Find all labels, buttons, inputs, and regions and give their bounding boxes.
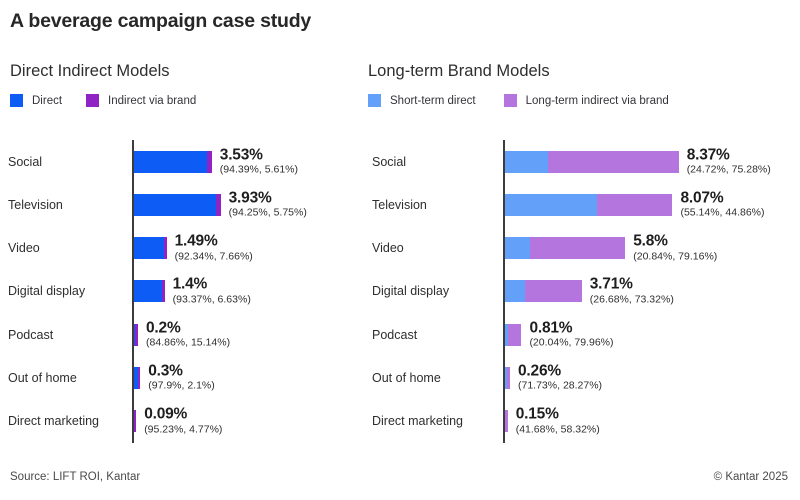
stacked-bar[interactable] — [134, 280, 165, 302]
stacked-bar[interactable] — [505, 410, 508, 432]
legend-label: Short-term direct — [390, 95, 476, 107]
value-label-group: 3.53%(94.39%, 5.61%) — [220, 147, 298, 176]
chart-long-term-brand: Social8.37%(24.72%, 75.28%)Television8.0… — [360, 140, 800, 443]
source-note: Source: LIFT ROI, Kantar — [10, 471, 140, 483]
value-label-group: 0.15%(41.68%, 58.32%) — [516, 407, 600, 436]
bar-segment — [134, 237, 164, 259]
category-label: Out of home — [8, 371, 77, 385]
bar-segment — [525, 280, 582, 302]
split-share-label: (20.84%, 79.16%) — [633, 251, 717, 262]
value-label-group: 0.26%(71.73%, 28.27%) — [518, 364, 602, 393]
category-label: Television — [372, 198, 427, 212]
bar-segment — [505, 151, 548, 173]
stacked-bar[interactable] — [505, 324, 522, 346]
bar-row: Social3.53%(94.39%, 5.61%) — [0, 140, 360, 183]
value-label-group: 0.09%(95.23%, 4.77%) — [144, 407, 222, 436]
stacked-bar[interactable] — [134, 194, 221, 216]
split-share-label: (93.37%, 6.63%) — [173, 295, 251, 306]
bar-segment — [138, 367, 141, 389]
bar-segment — [134, 410, 137, 432]
split-share-label: (26.68%, 73.32%) — [590, 295, 674, 306]
stacked-bar[interactable] — [505, 280, 582, 302]
panel-title: Direct Indirect Models — [10, 62, 170, 81]
stacked-bar[interactable] — [505, 151, 679, 173]
bar-row: Podcast0.81%(20.04%, 79.96%) — [360, 313, 800, 356]
bar-segment — [207, 151, 211, 173]
bar-segment — [134, 280, 162, 302]
panel-long-term-brand-models: Long-term Brand Models Short-term direct… — [360, 0, 800, 500]
bar-segment — [505, 410, 508, 432]
legend-item-indirect-via-brand[interactable]: Indirect via brand — [86, 94, 196, 107]
category-label: Social — [8, 155, 42, 169]
bar-row: Social8.37%(24.72%, 75.28%) — [360, 140, 800, 183]
split-share-label: (97.9%, 2.1%) — [148, 381, 215, 392]
split-share-label: (95.23%, 4.77%) — [144, 424, 222, 435]
category-label: Social — [372, 155, 406, 169]
legend-swatch-icon — [86, 94, 99, 107]
stacked-bar[interactable] — [134, 151, 212, 173]
bar-row: Direct marketing0.09%(95.23%, 4.77%) — [0, 400, 360, 443]
category-label: Direct marketing — [8, 414, 99, 428]
bar-segment — [134, 151, 208, 173]
legend-swatch-icon — [504, 94, 517, 107]
stacked-bar[interactable] — [505, 194, 673, 216]
bar-row: Television3.93%(94.25%, 5.75%) — [0, 183, 360, 226]
value-label-group: 3.93%(94.25%, 5.75%) — [229, 191, 307, 220]
category-label: Direct marketing — [372, 414, 463, 428]
category-label: Podcast — [372, 328, 417, 342]
bar-row: Out of home0.3%(97.9%, 2.1%) — [0, 356, 360, 399]
split-share-label: (92.34%, 7.66%) — [175, 251, 253, 262]
split-share-label: (71.73%, 28.27%) — [518, 381, 602, 392]
legend-label: Direct — [32, 95, 62, 107]
split-share-label: (20.04%, 79.96%) — [529, 338, 613, 349]
category-label: Digital display — [8, 284, 85, 298]
stacked-bar[interactable] — [134, 367, 141, 389]
value-label-group: 1.4%(93.37%, 6.63%) — [173, 277, 251, 306]
category-label: Video — [8, 241, 40, 255]
panel-direct-indirect-models: Direct Indirect Models Direct Indirect v… — [0, 0, 360, 500]
bar-segment — [162, 280, 165, 302]
bar-row: Video5.8%(20.84%, 79.16%) — [360, 227, 800, 270]
stacked-bar[interactable] — [134, 410, 137, 432]
total-value-label: 1.4% — [173, 277, 251, 293]
total-value-label: 3.53% — [220, 147, 298, 163]
value-label-group: 0.81%(20.04%, 79.96%) — [529, 320, 613, 349]
total-value-label: 0.2% — [146, 320, 230, 336]
value-label-group: 8.07%(55.14%, 44.86%) — [680, 191, 764, 220]
chart-canvas: A beverage campaign case study Direct In… — [0, 0, 800, 500]
bar-segment — [135, 324, 138, 346]
bar-segment — [216, 194, 221, 216]
stacked-bar[interactable] — [505, 237, 626, 259]
stacked-bar[interactable] — [134, 324, 138, 346]
bar-segment — [508, 324, 521, 346]
bar-segment — [507, 367, 510, 389]
total-value-label: 0.15% — [516, 407, 600, 423]
panel-title: Long-term Brand Models — [368, 62, 550, 81]
bar-segment — [505, 280, 526, 302]
total-value-label: 1.49% — [175, 234, 253, 250]
split-share-label: (94.25%, 5.75%) — [229, 208, 307, 219]
category-label: Digital display — [372, 284, 449, 298]
total-value-label: 0.3% — [148, 364, 215, 380]
bar-segment — [134, 194, 216, 216]
split-share-label: (84.86%, 15.14%) — [146, 338, 230, 349]
chart-direct-indirect: Social3.53%(94.39%, 5.61%)Television3.93… — [0, 140, 360, 443]
bar-row: Video1.49%(92.34%, 7.66%) — [0, 227, 360, 270]
stacked-bar[interactable] — [134, 237, 167, 259]
legend-swatch-icon — [368, 94, 381, 107]
total-value-label: 0.09% — [144, 407, 222, 423]
legend-label: Long-term indirect via brand — [526, 95, 669, 107]
total-value-label: 5.8% — [633, 234, 717, 250]
bar-segment — [597, 194, 672, 216]
value-label-group: 0.3%(97.9%, 2.1%) — [148, 364, 215, 393]
value-label-group: 1.49%(92.34%, 7.66%) — [175, 234, 253, 263]
total-value-label: 3.71% — [590, 277, 674, 293]
bar-row: Television8.07%(55.14%, 44.86%) — [360, 183, 800, 226]
split-share-label: (55.14%, 44.86%) — [680, 208, 764, 219]
legend-swatch-icon — [10, 94, 23, 107]
legend-label: Indirect via brand — [108, 95, 196, 107]
bar-segment — [505, 194, 598, 216]
split-share-label: (41.68%, 58.32%) — [516, 424, 600, 435]
value-label-group: 0.2%(84.86%, 15.14%) — [146, 320, 230, 349]
total-value-label: 0.26% — [518, 364, 602, 380]
bar-row: Direct marketing0.15%(41.68%, 58.32%) — [360, 400, 800, 443]
category-label: Out of home — [372, 371, 441, 385]
total-value-label: 3.93% — [229, 191, 307, 207]
bar-segment — [548, 151, 679, 173]
legend-long-term-brand: Short-term direct Long-term indirect via… — [368, 94, 669, 107]
category-label: Television — [8, 198, 63, 212]
bar-row: Podcast0.2%(84.86%, 15.14%) — [0, 313, 360, 356]
legend-direct-indirect: Direct Indirect via brand — [10, 94, 196, 107]
legend-item-short-term-direct[interactable]: Short-term direct — [368, 94, 476, 107]
bar-row: Digital display3.71%(26.68%, 73.32%) — [360, 270, 800, 313]
split-share-label: (24.72%, 75.28%) — [687, 165, 771, 176]
legend-item-direct[interactable]: Direct — [10, 94, 62, 107]
bar-segment — [505, 237, 530, 259]
total-value-label: 8.07% — [680, 191, 764, 207]
value-label-group: 5.8%(20.84%, 79.16%) — [633, 234, 717, 263]
category-label: Video — [372, 241, 404, 255]
bar-row: Digital display1.4%(93.37%, 6.63%) — [0, 270, 360, 313]
bar-segment — [530, 237, 625, 259]
total-value-label: 8.37% — [687, 147, 771, 163]
value-label-group: 3.71%(26.68%, 73.32%) — [590, 277, 674, 306]
stacked-bar[interactable] — [505, 367, 510, 389]
bar-row: Out of home0.26%(71.73%, 28.27%) — [360, 356, 800, 399]
bar-segment — [164, 237, 167, 259]
copyright-note: © Kantar 2025 — [714, 471, 788, 483]
total-value-label: 0.81% — [529, 320, 613, 336]
legend-item-long-term-indirect-via-brand[interactable]: Long-term indirect via brand — [504, 94, 669, 107]
value-label-group: 8.37%(24.72%, 75.28%) — [687, 147, 771, 176]
split-share-label: (94.39%, 5.61%) — [220, 165, 298, 176]
category-label: Podcast — [8, 328, 53, 342]
